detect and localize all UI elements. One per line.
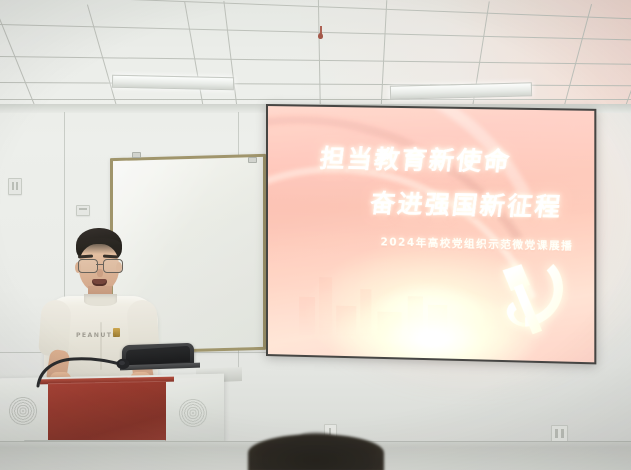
ceiling-grid-line (0, 99, 631, 100)
audience-member-head (248, 434, 384, 470)
whiteboard-mount-clip (248, 157, 257, 163)
presenter-sleeve-left (38, 299, 72, 357)
glasses-bridge (96, 264, 103, 265)
whiteboard-mount-clip (132, 152, 141, 158)
presenter-fringe (76, 238, 122, 254)
shirt-badge (113, 328, 120, 337)
slide-title-line-1: 担当教育新使命 (318, 139, 514, 178)
podium-speaker-grille-right (178, 398, 208, 428)
screen-frame: 担当教育新使命 奋进强国新征程 2024年高校党组织示范微党课展播 (266, 104, 596, 364)
ceiling-light-left (112, 75, 234, 91)
wall-outlet-left-lower[interactable] (76, 205, 90, 216)
presenter-nose (97, 269, 103, 277)
outlet-slot (79, 208, 87, 210)
outlet-slot (555, 429, 558, 438)
suspended-ceiling (0, 0, 631, 112)
skyline-building (299, 296, 316, 335)
podium-speaker-grille-left (8, 396, 38, 426)
ceiling-grid-line (223, 1, 239, 112)
ceiling-grid-line (184, 2, 206, 112)
hair-wisp (296, 432, 336, 444)
slide-title-line-2: 奋进强国新征程 (368, 184, 565, 224)
shirt-graphic-text: PEANUTS (76, 332, 118, 339)
presentation-slide: 担当教育新使命 奋进强国新征程 2024年高校党组织示范微党课展播 (268, 106, 594, 362)
outlet-slot (16, 182, 18, 190)
glasses-lens-left (78, 259, 98, 273)
hair-wisp (253, 439, 281, 459)
hammer-and-sickle-emblem (484, 249, 578, 344)
outlet-slot (12, 182, 14, 190)
podium-front-panel (48, 381, 166, 445)
glasses-lens-right (103, 259, 123, 273)
shirt-fold (100, 322, 102, 370)
sprinkler-bulb (318, 33, 323, 39)
presenter-collar (84, 294, 117, 306)
projection-screen: 担当教育新使命 奋进强国新征程 2024年高校党组织示范微党课展播 (266, 104, 596, 364)
wall-outlet-left-upper[interactable] (8, 178, 22, 195)
classroom-photo: 担当教育新使命 奋进强国新征程 2024年高校党组织示范微党课展播 (0, 0, 631, 470)
sprinkler-head (318, 26, 323, 40)
outlet-slot (561, 429, 564, 438)
presenter-mouth (92, 279, 107, 286)
